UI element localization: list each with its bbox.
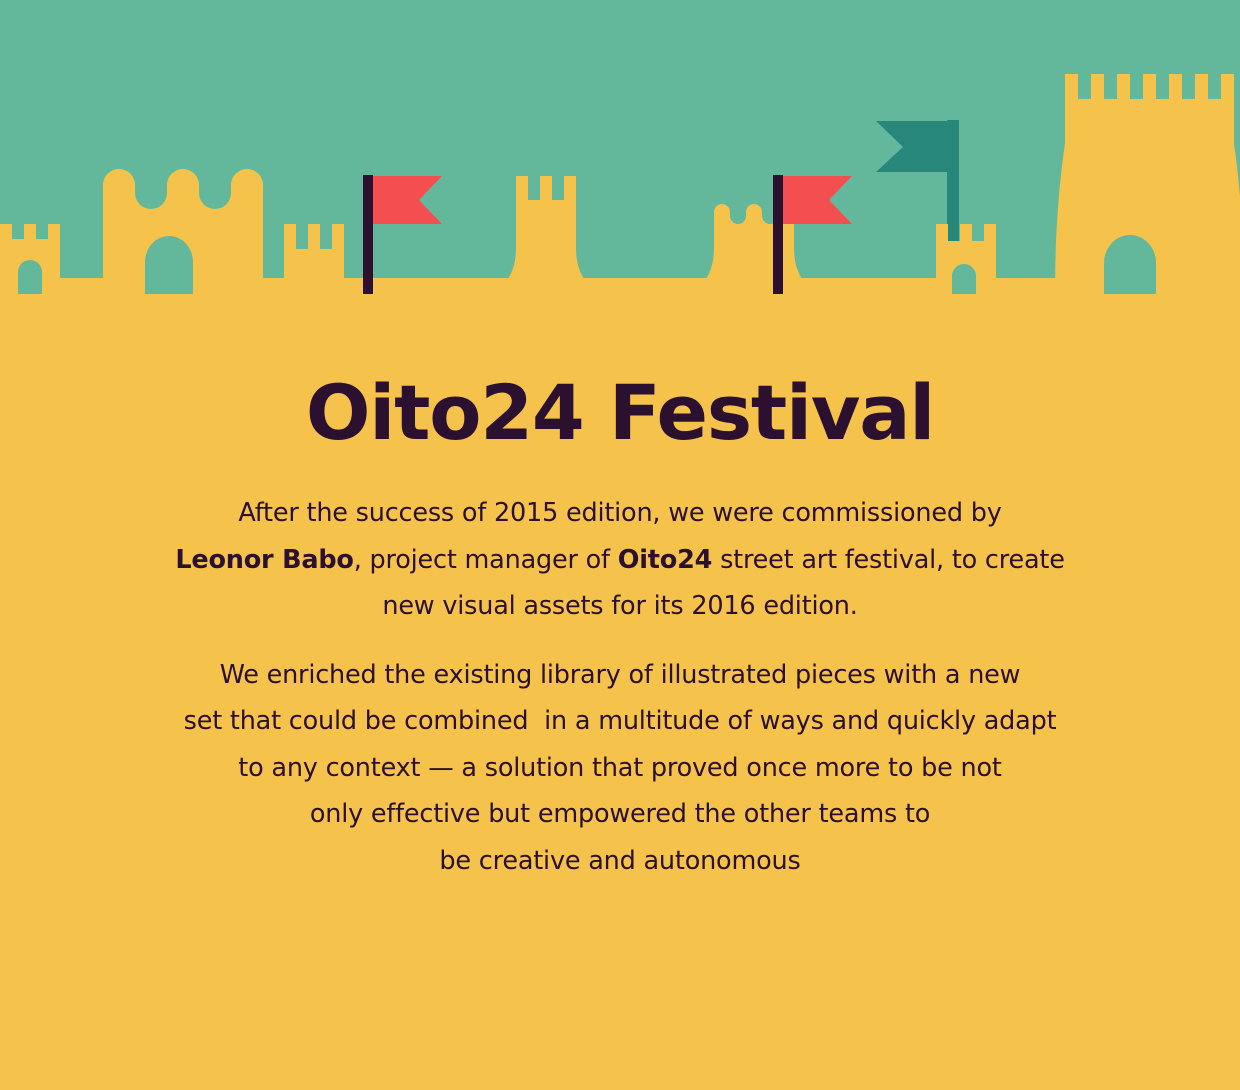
great-tower-gate — [1104, 235, 1156, 294]
small-left-tower — [0, 224, 60, 294]
small-right-tower — [936, 224, 996, 294]
text-run: We enriched the existing library of illu… — [220, 660, 1021, 690]
text-run: , project manager of — [354, 545, 618, 575]
castle-skyline-svg — [0, 0, 1240, 294]
flag-pole-left — [363, 175, 373, 294]
text-run: After the success of 2015 edition, we we… — [238, 498, 1001, 528]
paragraph-outcome: We enriched the existing library of illu… — [0, 652, 1240, 885]
content-section: Oito24 Festival After the success of 201… — [0, 294, 1240, 884]
emphasized-text: Oito24 — [618, 545, 712, 575]
great-tower — [1055, 74, 1240, 294]
page-title: Oito24 Festival — [0, 370, 1240, 456]
paragraph-intro: After the success of 2015 edition, we we… — [0, 490, 1240, 630]
paragraph-line: to any context — a solution that proved … — [0, 745, 1240, 792]
text-run: set that could be combined in a multitud… — [184, 706, 1057, 736]
flag-pole-right — [773, 175, 783, 294]
festival-page: Oito24 Festival After the success of 201… — [0, 0, 1240, 1090]
text-run: be creative and autonomous — [439, 846, 800, 876]
keep-arch-window — [145, 236, 193, 294]
paragraph-line: be creative and autonomous — [0, 838, 1240, 885]
paragraph-line: new visual assets for its 2016 edition. — [0, 583, 1240, 630]
text-run: street art festival, to create — [712, 545, 1065, 575]
text-run: to any context — a solution that proved … — [238, 753, 1001, 783]
paragraph-line: set that could be combined in a multitud… — [0, 698, 1240, 745]
paragraph-line: only effective but empowered the other t… — [0, 791, 1240, 838]
paragraph-line: After the success of 2015 edition, we we… — [0, 490, 1240, 537]
text-run: new visual assets for its 2016 edition. — [382, 591, 857, 621]
emphasized-text: Leonor Babo — [175, 545, 353, 575]
paragraph-line: Leonor Babo, project manager of Oito24 s… — [0, 537, 1240, 584]
paragraph-line: We enriched the existing library of illu… — [0, 652, 1240, 699]
main-keep — [103, 169, 263, 294]
hero-illustration — [0, 0, 1240, 294]
right-tower-window — [952, 264, 976, 294]
small-mid-tower — [284, 224, 344, 294]
text-run: only effective but empowered the other t… — [310, 799, 930, 829]
